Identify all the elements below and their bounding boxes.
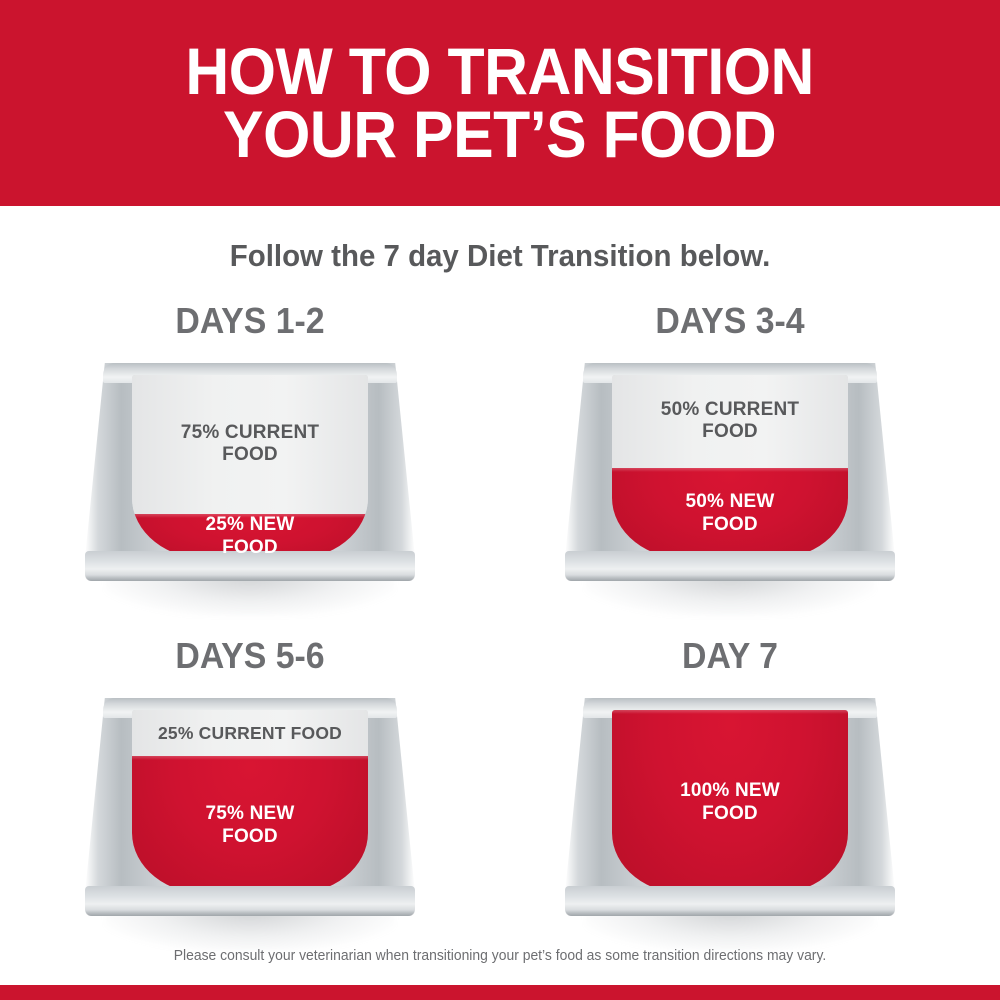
bowl-base bbox=[565, 551, 895, 581]
page-title-line-1: HOW TO TRANSITION bbox=[186, 40, 815, 103]
transition-step-days-5-6: DAYS 5-6 25% CURRENT FOOD 75% NEW FOOD bbox=[40, 635, 460, 955]
transition-step-days-1-2: DAYS 1-2 75% CURRENT FOOD 25% NEW FOOD bbox=[40, 300, 460, 620]
food-bowl: 100% NEW FOOD bbox=[565, 690, 895, 925]
bowl-inner-cavity: 25% CURRENT FOOD 75% NEW FOOD bbox=[132, 710, 368, 895]
transition-step-days-3-4: DAYS 3-4 50% CURRENT FOOD 50% NEW FOOD bbox=[520, 300, 940, 620]
transition-steps-grid: DAYS 1-2 75% CURRENT FOOD 25% NEW FOOD D… bbox=[0, 300, 1000, 940]
new-food-label: 50% NEW FOOD bbox=[679, 491, 780, 536]
food-bowl: 25% CURRENT FOOD 75% NEW FOOD bbox=[85, 690, 415, 925]
subtitle: Follow the 7 day Diet Transition below. bbox=[25, 238, 975, 274]
current-food-layer: 25% CURRENT FOOD bbox=[132, 710, 368, 756]
bowl-shadow bbox=[585, 576, 875, 616]
transition-step-day-7: DAY 7 100% NEW FOOD bbox=[520, 635, 940, 955]
food-bowl: 75% CURRENT FOOD 25% NEW FOOD bbox=[85, 355, 415, 590]
page-title-line-2: YOUR PET’S FOOD bbox=[223, 103, 776, 166]
footer-banner bbox=[0, 985, 1000, 1000]
new-food-label: 75% NEW FOOD bbox=[199, 803, 300, 848]
bowl-inner-cavity: 100% NEW FOOD bbox=[612, 710, 848, 895]
new-food-label: 25% NEW FOOD bbox=[199, 514, 300, 559]
day-label: DAYS 1-2 bbox=[53, 300, 448, 342]
bowl-inner-cavity: 50% CURRENT FOOD 50% NEW FOOD bbox=[612, 375, 848, 560]
footnote-disclaimer: Please consult your veterinarian when tr… bbox=[20, 948, 980, 964]
food-bowl: 50% CURRENT FOOD 50% NEW FOOD bbox=[565, 355, 895, 590]
bowl-base bbox=[565, 886, 895, 916]
day-label: DAY 7 bbox=[533, 635, 928, 677]
current-food-layer: 75% CURRENT FOOD bbox=[132, 375, 368, 514]
day-label: DAYS 5-6 bbox=[53, 635, 448, 677]
bowl-base bbox=[85, 886, 415, 916]
current-food-label: 75% CURRENT FOOD bbox=[175, 422, 325, 467]
bowl-inner-cavity: 75% CURRENT FOOD 25% NEW FOOD bbox=[132, 375, 368, 560]
bowl-shadow bbox=[585, 911, 875, 951]
new-food-layer: 75% NEW FOOD bbox=[132, 756, 368, 895]
header-banner: HOW TO TRANSITION YOUR PET’S FOOD bbox=[0, 0, 1000, 206]
day-label: DAYS 3-4 bbox=[533, 300, 928, 342]
bowl-shadow bbox=[105, 576, 395, 616]
current-food-label: 50% CURRENT FOOD bbox=[655, 399, 805, 444]
new-food-label: 100% NEW FOOD bbox=[674, 780, 786, 825]
new-food-layer: 50% NEW FOOD bbox=[612, 468, 848, 561]
current-food-label: 25% CURRENT FOOD bbox=[152, 723, 348, 744]
bowl-shadow bbox=[105, 911, 395, 951]
new-food-layer: 100% NEW FOOD bbox=[612, 710, 848, 895]
current-food-layer: 50% CURRENT FOOD bbox=[612, 375, 848, 468]
